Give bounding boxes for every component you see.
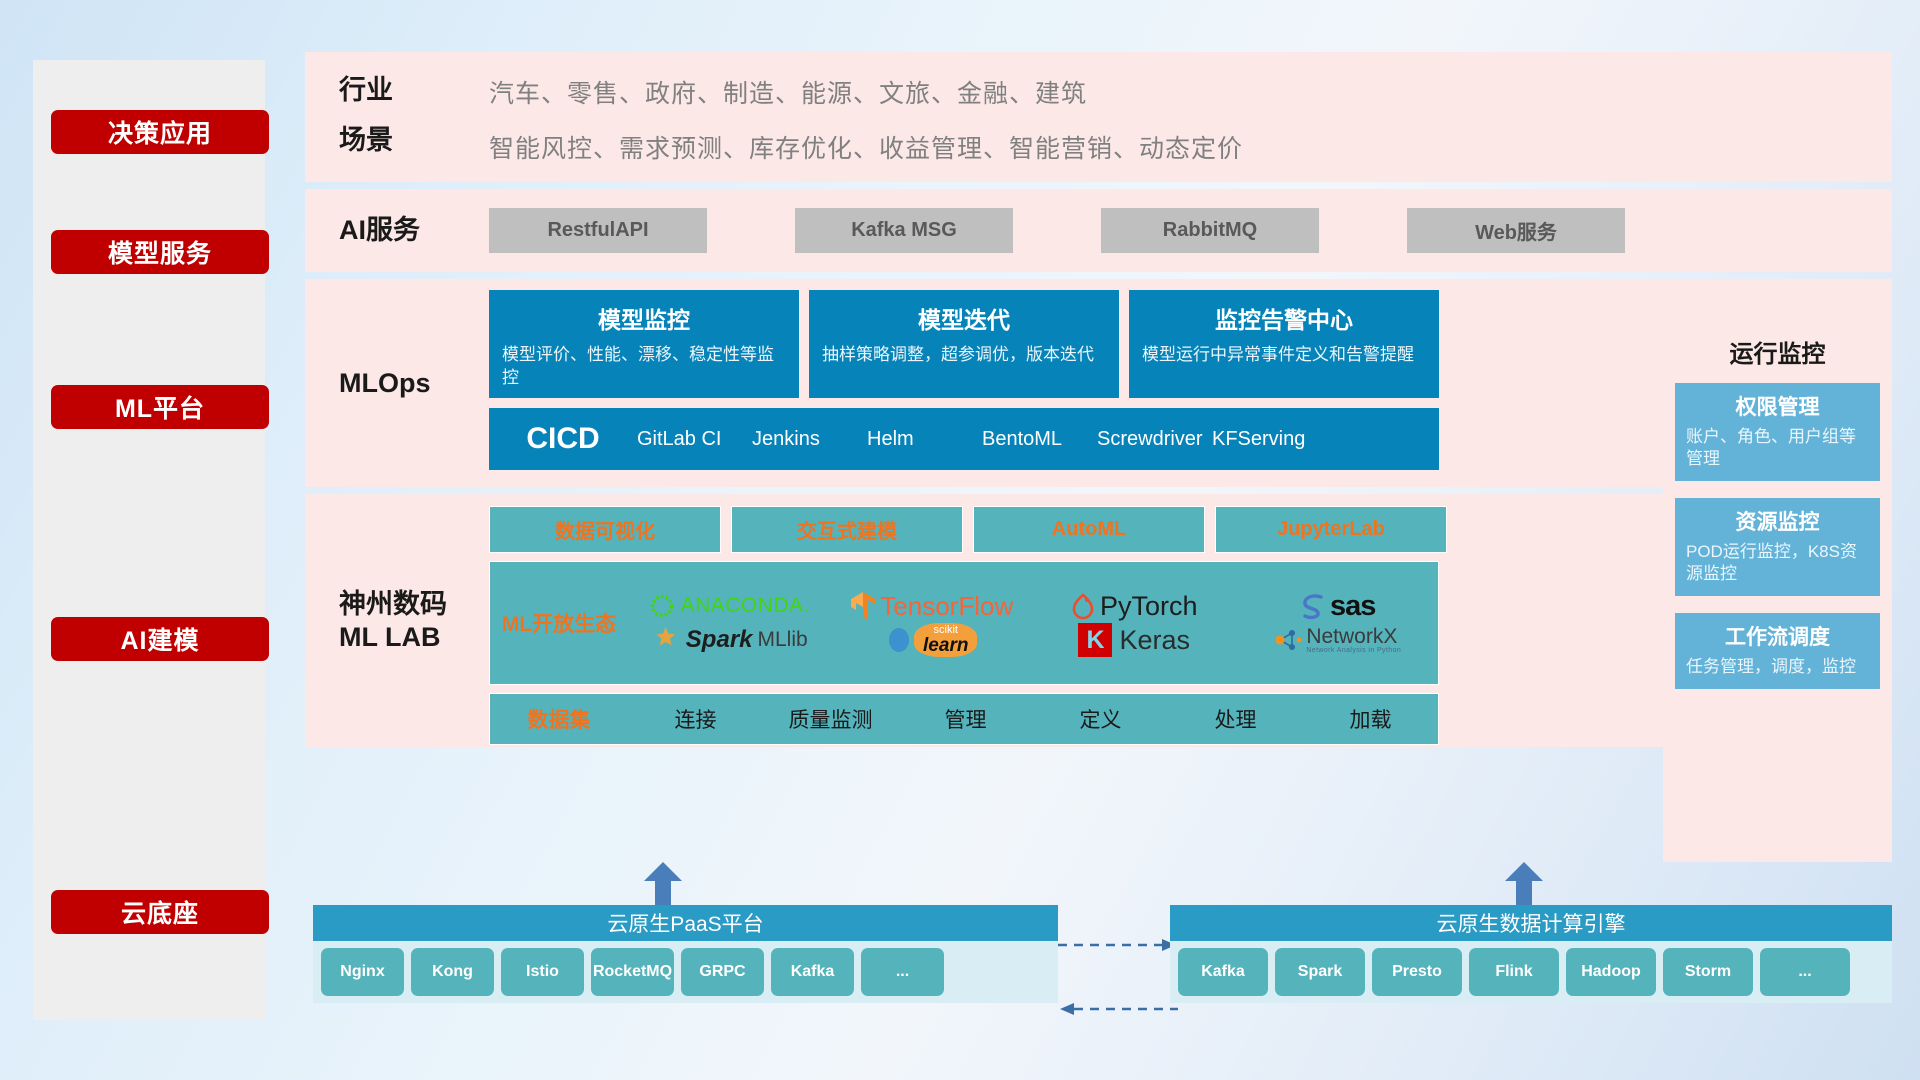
ai-service-label: AI服务 — [339, 214, 489, 246]
service-chip-label: RestfulAPI — [547, 219, 648, 242]
sas-logo-text: sas — [1330, 590, 1375, 623]
cicd-item-screwdriver[interactable]: Screwdriver — [1097, 428, 1212, 450]
dataset-item-quality[interactable]: 质量监测 — [763, 704, 898, 734]
card-title: 工作流调度 — [1686, 621, 1869, 651]
paas-chip-kong[interactable]: Kong — [411, 948, 494, 996]
card-desc: 任务管理，调度，监控 — [1686, 656, 1869, 678]
ai-modeling-band: 神州数码 ML LAB 数据可视化 交互式建模 AutoML JupyterLa… — [305, 494, 1892, 747]
card-desc: 模型评价、性能、漂移、稳定性等监控 — [502, 344, 786, 390]
card-title: 模型监控 — [502, 301, 786, 335]
ml-ecosystem-row: ML开放生态 ANACONDA. TensorFlow — [489, 561, 1439, 685]
industry-label: 行业 — [339, 74, 489, 106]
stage-rail: 决策应用 模型服务 ML平台 AI建模 云底座 — [33, 60, 265, 1020]
stage-pill-decision[interactable]: 决策应用 — [51, 110, 269, 154]
compute-to-paas-arrow-icon — [1058, 1002, 1178, 1016]
mlops-label: MLOps — [339, 367, 489, 399]
mlops-card-model-iteration[interactable]: 模型迭代 抽样策略调整，超参调优，版本迭代 — [809, 290, 1119, 398]
cicd-item-helm[interactable]: Helm — [867, 428, 982, 450]
card-desc: 抽样策略调整，超参调优，版本迭代 — [822, 344, 1106, 367]
stage-label: ML平台 — [115, 389, 205, 425]
dataset-item-process[interactable]: 处理 — [1168, 704, 1303, 734]
tab-automl[interactable]: AutoML — [973, 506, 1205, 553]
stage-pill-ai-modeling[interactable]: AI建模 — [51, 617, 269, 661]
paas-chip-more[interactable]: ... — [861, 948, 944, 996]
compute-chip-storm[interactable]: Storm — [1663, 948, 1753, 996]
monitor-card-workflow[interactable]: 工作流调度 任务管理，调度，监控 — [1675, 613, 1880, 689]
tab-label: 数据可视化 — [555, 515, 655, 544]
dataset-item-connect[interactable]: 连接 — [628, 704, 763, 734]
architecture-main-column: 行业 场景 汽车、零售、政府、制造、能源、文旅、金融、建筑 智能风控、需求预测、… — [305, 52, 1892, 747]
cicd-item-gitlab-ci[interactable]: GitLab CI — [637, 428, 752, 450]
ai-service-band: AI服务 RestfulAPI Kafka MSG RabbitMQ Web服务 — [305, 189, 1892, 272]
pytorch-logo-text: PyTorch — [1100, 591, 1198, 622]
compute-chip-more[interactable]: ... — [1760, 948, 1850, 996]
cicd-item-kfserving[interactable]: KFServing — [1212, 428, 1327, 450]
networkx-logo-text: NetworkX — [1306, 626, 1401, 647]
stage-label: AI建模 — [120, 621, 199, 657]
card-desc: 账户、角色、用户组等管理 — [1686, 426, 1869, 470]
paas-chip-istio[interactable]: Istio — [501, 948, 584, 996]
dataset-label: 数据集 — [490, 704, 628, 734]
compute-chip-list: Kafka Spark Presto Flink Hadoop Storm ..… — [1170, 941, 1892, 1003]
decision-applications-band: 行业 场景 汽车、零售、政府、制造、能源、文旅、金融、建筑 智能风控、需求预测、… — [305, 52, 1892, 182]
learn-word: learn — [923, 636, 968, 655]
service-chip-restfulapi[interactable]: RestfulAPI — [489, 208, 707, 253]
industry-list: 汽车、零售、政府、制造、能源、文旅、金融、建筑 — [489, 74, 1243, 110]
cicd-title: CICD — [489, 422, 637, 456]
spark-mllib-logo: Spark MLlib — [651, 625, 808, 655]
stage-label: 决策应用 — [108, 114, 212, 150]
stage-label: 云底座 — [121, 894, 199, 930]
spark-word: Spark — [686, 626, 753, 654]
paas-block: 云原生PaaS平台 Nginx Kong Istio RocketMQ GRPC… — [313, 905, 1058, 1003]
paas-up-arrow-icon — [644, 862, 682, 908]
compute-engine-title: 云原生数据计算引擎 — [1170, 905, 1892, 941]
dataset-item-manage[interactable]: 管理 — [898, 704, 1033, 734]
compute-chip-hadoop[interactable]: Hadoop — [1566, 948, 1656, 996]
service-chip-label: Kafka MSG — [851, 219, 957, 242]
ml-ecosystem-label: ML开放生态 — [490, 608, 628, 638]
paas-title: 云原生PaaS平台 — [313, 905, 1058, 941]
ml-lab-tabs: 数据可视化 交互式建模 AutoML JupyterLab — [489, 506, 1447, 553]
card-desc: 模型运行中异常事件定义和告警提醒 — [1142, 344, 1426, 367]
cicd-item-jenkins[interactable]: Jenkins — [752, 428, 867, 450]
service-chip-label: Web服务 — [1475, 216, 1557, 245]
cicd-item-bentoml[interactable]: BentoML — [982, 428, 1097, 450]
stage-label: 模型服务 — [108, 234, 212, 270]
tab-label: 交互式建模 — [797, 515, 897, 544]
monitor-card-resource[interactable]: 资源监控 POD运行监控，K8S资源监控 — [1675, 498, 1880, 596]
pytorch-logo: PyTorch — [1071, 591, 1198, 622]
stage-pill-cloud-base[interactable]: 云底座 — [51, 890, 269, 934]
paas-chip-grpc[interactable]: GRPC — [681, 948, 764, 996]
dataset-row: 数据集 连接 质量监测 管理 定义 处理 加载 — [489, 693, 1439, 745]
tab-data-visualization[interactable]: 数据可视化 — [489, 506, 721, 553]
tab-interactive-modeling[interactable]: 交互式建模 — [731, 506, 963, 553]
paas-chip-rocketmq[interactable]: RocketMQ — [591, 948, 674, 996]
keras-logo: K Keras — [1078, 623, 1190, 657]
apps-labels: 行业 场景 — [339, 74, 489, 182]
anaconda-logo: ANACONDA. — [649, 593, 810, 619]
ml-lab-content: 数据可视化 交互式建模 AutoML JupyterLab ML开放生态 ANA… — [489, 494, 1447, 747]
card-title: 监控告警中心 — [1142, 301, 1426, 335]
compute-engine-block: 云原生数据计算引擎 Kafka Spark Presto Flink Hadoo… — [1170, 905, 1892, 1003]
mlops-content: 模型监控 模型评价、性能、漂移、稳定性等监控 模型迭代 抽样策略调整，超参调优，… — [489, 279, 1439, 487]
stage-pill-ml-platform[interactable]: ML平台 — [51, 385, 269, 429]
cicd-bar: CICD GitLab CI Jenkins Helm BentoML Scre… — [489, 408, 1439, 470]
runtime-monitoring-column: 运行监控 权限管理 账户、角色、用户组等管理 资源监控 POD运行监控，K8S资… — [1663, 318, 1892, 862]
mlops-card-alert-center[interactable]: 监控告警中心 模型运行中异常事件定义和告警提醒 — [1129, 290, 1439, 398]
paas-to-compute-arrow-icon — [1058, 938, 1178, 952]
service-chip-web-service[interactable]: Web服务 — [1407, 208, 1625, 253]
dataset-item-define[interactable]: 定义 — [1033, 704, 1168, 734]
scenario-label: 场景 — [339, 124, 489, 156]
dataset-item-load[interactable]: 加载 — [1303, 704, 1438, 734]
scikit-learn-logo: scikit learn — [886, 623, 977, 657]
service-chip-rabbitmq[interactable]: RabbitMQ — [1101, 208, 1319, 253]
compute-chip-flink[interactable]: Flink — [1469, 948, 1559, 996]
paas-chip-list: Nginx Kong Istio RocketMQ GRPC Kafka ... — [313, 941, 1058, 1003]
compute-chip-kafka[interactable]: Kafka — [1178, 948, 1268, 996]
paas-chip-nginx[interactable]: Nginx — [321, 948, 404, 996]
card-desc: POD运行监控，K8S资源监控 — [1686, 541, 1869, 585]
tab-label: AutoML — [1052, 518, 1126, 541]
service-chip-label: RabbitMQ — [1163, 219, 1257, 242]
networkx-logo: NetworkX Network Analysis in Python — [1272, 626, 1401, 654]
ml-ecosystem-logos: ANACONDA. TensorFlow — [628, 589, 1438, 657]
ml-lab-label: 神州数码 ML LAB — [339, 588, 489, 653]
mllib-word: MLlib — [758, 628, 808, 652]
card-title: 模型迭代 — [822, 301, 1106, 335]
ai-service-items: RestfulAPI Kafka MSG RabbitMQ Web服务 — [489, 208, 1625, 253]
mlops-card-model-monitoring[interactable]: 模型监控 模型评价、性能、漂移、稳定性等监控 — [489, 290, 799, 398]
tensorflow-logo: TensorFlow — [850, 591, 1013, 622]
scenario-list: 智能风控、需求预测、库存优化、收益管理、智能营销、动态定价 — [489, 129, 1243, 165]
tensorflow-logo-text: TensorFlow — [880, 591, 1013, 622]
card-title: 权限管理 — [1686, 391, 1869, 421]
runtime-monitoring-title: 运行监控 — [1675, 334, 1880, 369]
keras-mark: K — [1078, 623, 1112, 657]
tab-label: JupyterLab — [1277, 518, 1385, 541]
compute-chip-presto[interactable]: Presto — [1372, 948, 1462, 996]
sas-logo: sas — [1298, 590, 1375, 623]
networkx-tagline: Network Analysis in Python — [1306, 647, 1401, 654]
service-chip-kafka-msg[interactable]: Kafka MSG — [795, 208, 1013, 253]
paas-chip-kafka[interactable]: Kafka — [771, 948, 854, 996]
keras-logo-text: Keras — [1119, 625, 1190, 656]
stage-pill-model-service[interactable]: 模型服务 — [51, 230, 269, 274]
compute-chip-spark[interactable]: Spark — [1275, 948, 1365, 996]
mlops-cards: 模型监控 模型评价、性能、漂移、稳定性等监控 模型迭代 抽样策略调整，超参调优，… — [489, 290, 1439, 398]
apps-values: 汽车、零售、政府、制造、能源、文旅、金融、建筑 智能风控、需求预测、库存优化、收… — [489, 74, 1243, 182]
anaconda-logo-text: ANACONDA. — [681, 594, 810, 618]
monitor-card-permission[interactable]: 权限管理 账户、角色、用户组等管理 — [1675, 383, 1880, 481]
card-title: 资源监控 — [1686, 506, 1869, 536]
compute-up-arrow-icon — [1505, 862, 1543, 908]
tab-jupyterlab[interactable]: JupyterLab — [1215, 506, 1447, 553]
mlops-band: MLOps 模型监控 模型评价、性能、漂移、稳定性等监控 模型迭代 抽样策略调整… — [305, 279, 1892, 487]
